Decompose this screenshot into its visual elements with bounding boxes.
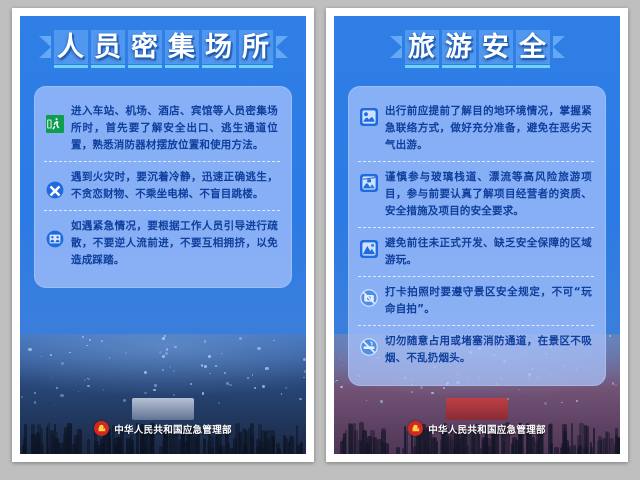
tip-text: 打卡拍照时要遵守景区安全规定，不可“玩命自拍”。 bbox=[385, 284, 592, 318]
tips-card: 进入车站、机场、酒店、宾馆等人员密集场所时，首先要了解安全出口、逃生通道位置，熟… bbox=[34, 86, 292, 288]
footer-badge-text: 中华人民共和国应急管理部 bbox=[428, 422, 546, 436]
tip-item: 如遇紧急情况，要根据工作人员引导进行疏散，不要逆人流前进，不要互相拥挤，以免造成… bbox=[44, 210, 280, 276]
photo-crowd-silhouettes bbox=[334, 376, 620, 454]
poster-photo-crowd bbox=[20, 334, 306, 454]
title-char: 安 bbox=[479, 30, 513, 64]
title-left-arrow-icon bbox=[390, 36, 402, 58]
tip-item: 打卡拍照时要遵守景区安全规定，不可“玩命自拍”。 bbox=[358, 276, 594, 325]
poster-sheet: 旅 游 安 全 bbox=[326, 8, 628, 462]
tip-text: 遇到火灾时，要沉着冷静，迅速正确逃生，不贪恋财物、不乘坐电梯、不盲目跳楼。 bbox=[71, 169, 278, 203]
title-right-arrow-icon bbox=[276, 36, 288, 58]
tip-text: 切勿随意占用或堵塞消防通道，在景区不吸烟、不乱扔烟头。 bbox=[385, 333, 592, 367]
footer-badge: 中华人民共和国应急管理部 bbox=[334, 421, 620, 436]
poster-panel-travel-safety: 旅 游 安 全 bbox=[320, 0, 640, 480]
title-char: 所 bbox=[239, 30, 273, 64]
emergency-exit-sign-icon bbox=[46, 115, 64, 133]
tip-item: 进入车站、机场、酒店、宾馆等人员密集场所时，首先要了解安全出口、逃生通道位置，熟… bbox=[44, 96, 280, 161]
title-right-arrow-icon bbox=[553, 36, 565, 58]
tips-card: 出行前应提前了解目的地环境情况，掌握紧急联络方式，做好充分准备，避免在恶劣天气出… bbox=[348, 86, 606, 386]
national-emblem-icon bbox=[408, 421, 423, 436]
crowd-evacuation-icon bbox=[46, 230, 64, 248]
poster-canvas: 旅 游 安 全 bbox=[334, 16, 620, 454]
national-emblem-icon bbox=[94, 421, 109, 436]
title-char: 员 bbox=[91, 30, 125, 64]
mountain-area-icon bbox=[360, 240, 378, 258]
tip-text: 进入车站、机场、酒店、宾馆等人员密集场所时，首先要了解安全出口、逃生通道位置，熟… bbox=[71, 103, 278, 154]
tip-text: 谨慎参与玻璃栈道、漂流等高风险旅游项目，参与前要认真了解项目经营者的资质、安全措… bbox=[385, 169, 592, 220]
tip-text: 如遇紧急情况，要根据工作人员引导进行疏散，不要逆人流前进，不要互相拥挤，以免造成… bbox=[71, 218, 278, 269]
poster-title: 旅 游 安 全 bbox=[334, 16, 620, 74]
tip-item: 遇到火灾时，要沉着冷静，迅速正确逃生，不贪恋财物、不乘坐电梯、不盲目跳楼。 bbox=[44, 161, 280, 210]
title-char: 密 bbox=[128, 30, 162, 64]
tip-text: 出行前应提前了解目的地环境情况，掌握紧急联络方式，做好充分准备，避免在恶劣天气出… bbox=[385, 103, 592, 154]
tip-item: 谨慎参与玻璃栈道、漂流等高风险旅游项目，参与前要认真了解项目经营者的资质、安全措… bbox=[358, 161, 594, 227]
title-char: 场 bbox=[202, 30, 236, 64]
poster-canvas: 人 员 密 集 场 所 bbox=[20, 16, 306, 454]
no-entry-cross-icon bbox=[46, 181, 64, 199]
tip-text: 避免前往未正式开发、缺乏安全保障的区域游玩。 bbox=[385, 235, 592, 269]
no-smoking-icon bbox=[360, 338, 378, 356]
footer-badge-text: 中华人民共和国应急管理部 bbox=[114, 422, 232, 436]
tip-item: 切勿随意占用或堵塞消防通道，在景区不吸烟、不乱扔烟头。 bbox=[358, 325, 594, 374]
poster-title: 人 员 密 集 场 所 bbox=[20, 16, 306, 74]
footer-badge: 中华人民共和国应急管理部 bbox=[20, 421, 306, 436]
poster-pair-stage: 人 员 密 集 场 所 bbox=[0, 0, 640, 480]
poster-sheet: 人 员 密 集 场 所 bbox=[12, 8, 314, 462]
no-selfie-icon bbox=[360, 289, 378, 307]
tip-item: 出行前应提前了解目的地环境情况，掌握紧急联络方式，做好充分准备，避免在恶劣天气出… bbox=[358, 96, 594, 161]
title-char: 全 bbox=[516, 30, 550, 64]
title-char: 人 bbox=[54, 30, 88, 64]
weather-forecast-icon bbox=[360, 108, 378, 126]
ropeway-attraction-icon bbox=[360, 174, 378, 192]
title-char: 游 bbox=[442, 30, 476, 64]
tip-item: 避免前往未正式开发、缺乏安全保障的区域游玩。 bbox=[358, 227, 594, 276]
title-left-arrow-icon bbox=[39, 36, 51, 58]
poster-panel-crowded-places: 人 员 密 集 场 所 bbox=[0, 0, 320, 480]
title-char: 旅 bbox=[405, 30, 439, 64]
title-char: 集 bbox=[165, 30, 199, 64]
